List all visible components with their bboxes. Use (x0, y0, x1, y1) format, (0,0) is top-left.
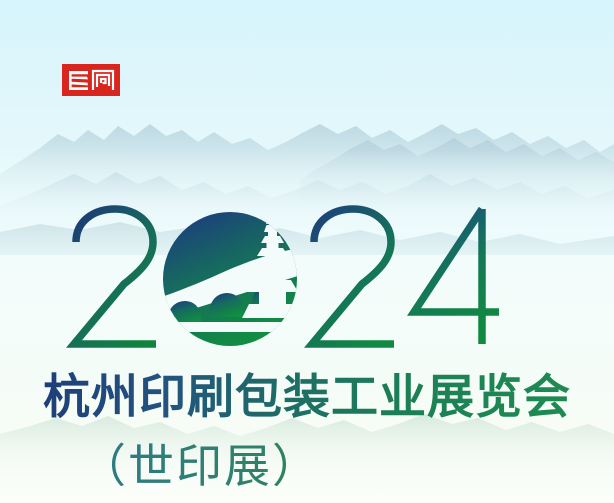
page-title: 杭州印刷包装工业展览会 (0, 372, 614, 424)
page-subtitle-text: （世印展） (80, 439, 320, 493)
year-digit-0-emblem (152, 212, 304, 346)
year-digit-2-second (312, 209, 394, 344)
year-emblem-2024 (52, 196, 512, 361)
poster-canvas: 杭州印刷包装工业展览会 （世印展） (0, 0, 614, 503)
page-title-text: 杭州印刷包装工业展览会 (43, 372, 571, 424)
year-digit-4 (414, 209, 499, 344)
page-subtitle: （世印展） (0, 438, 614, 494)
year-digit-2-first (74, 209, 156, 344)
yin-seal-logo[interactable] (62, 64, 120, 96)
